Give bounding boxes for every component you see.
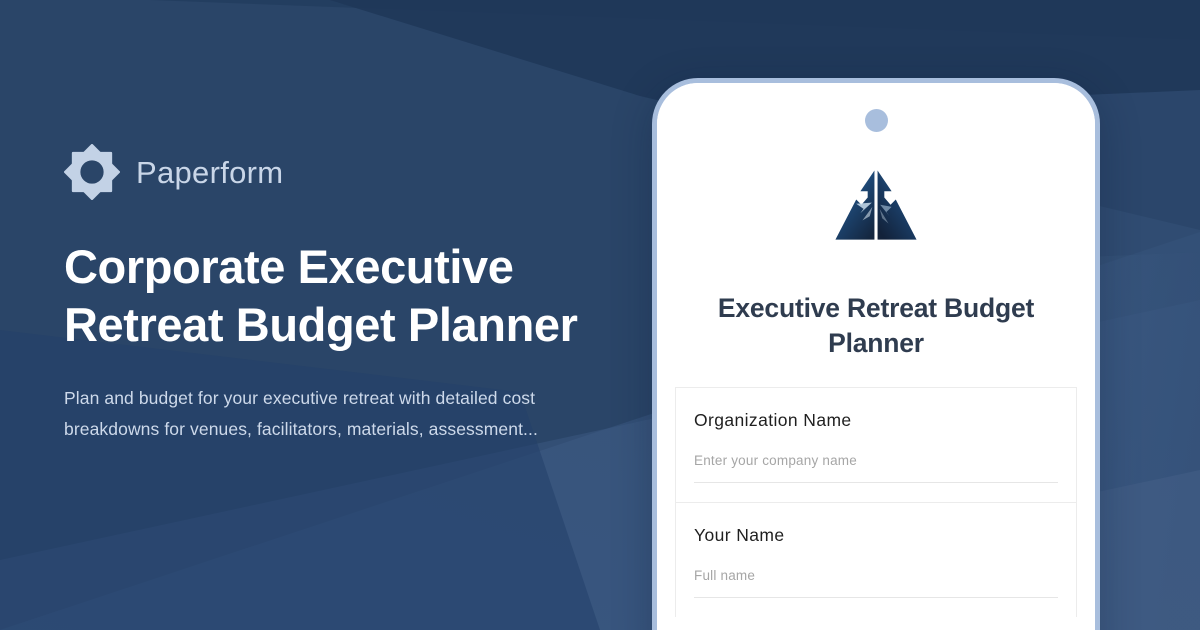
field-label: Organization Name [694,410,1058,431]
og-preview-canvas: Paperform Corporate Executive Retreat Bu… [0,0,1200,630]
hero-content: Paperform Corporate Executive Retreat Bu… [64,140,604,445]
camera-dot-icon [865,109,888,132]
phone-screen: Executive Retreat Budget Planner Organiz… [657,83,1095,630]
brand-name: Paperform [136,157,283,188]
phone-mockup: Executive Retreat Budget Planner Organiz… [652,78,1100,630]
brand-lockup: Paperform [64,140,604,204]
form-title: Executive Retreat Budget Planner [680,291,1072,361]
form-fields: Organization Name Enter your company nam… [675,387,1077,630]
mountain-arrow-logo-icon [824,159,928,263]
form-field-your-name[interactable]: Your Name Full name [675,502,1077,617]
paperform-logo-icon [64,144,120,200]
organization-name-input[interactable]: Enter your company name [694,453,1058,482]
field-label: Your Name [694,525,1058,546]
page-title: Corporate Executive Retreat Budget Plann… [64,238,584,355]
page-description: Plan and budget for your executive retre… [64,383,564,445]
your-name-input[interactable]: Full name [694,568,1058,597]
form-field-organization-name[interactable]: Organization Name Enter your company nam… [675,387,1077,502]
